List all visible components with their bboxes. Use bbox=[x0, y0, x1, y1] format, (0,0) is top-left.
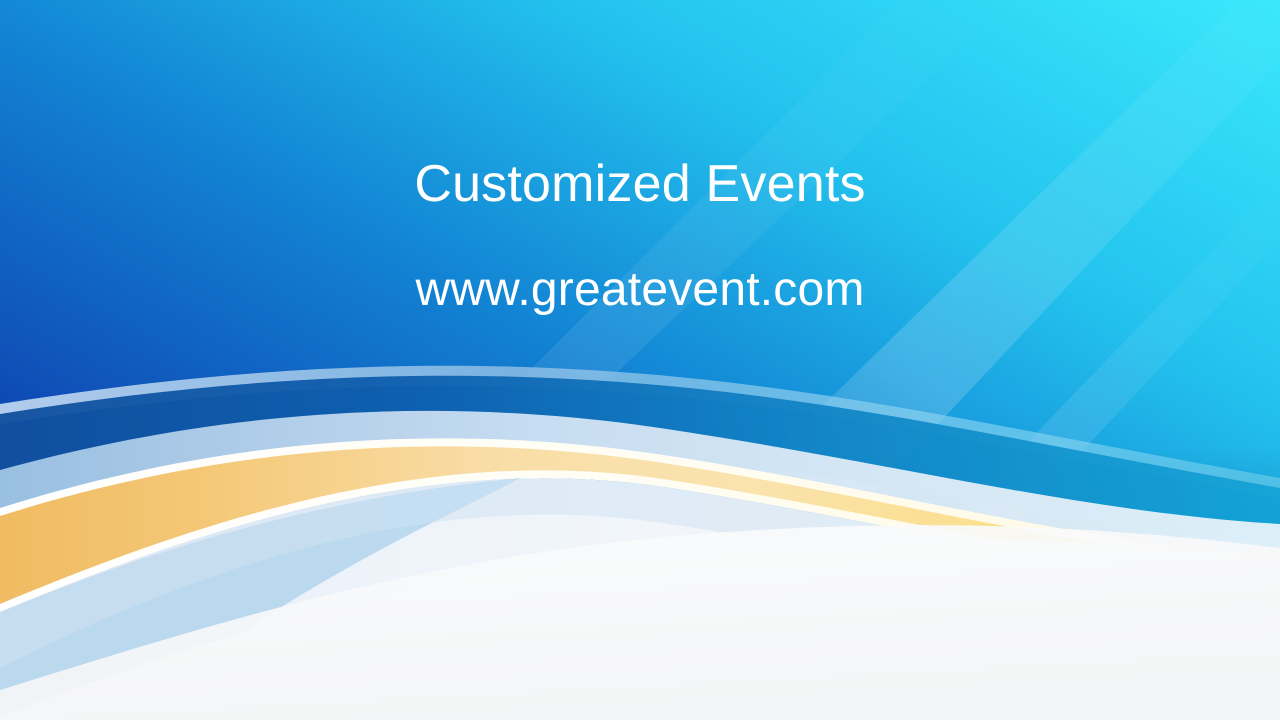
presentation-slide: Customized Events www.greatevent.com bbox=[0, 0, 1280, 720]
slide-background-artwork bbox=[0, 0, 1280, 720]
